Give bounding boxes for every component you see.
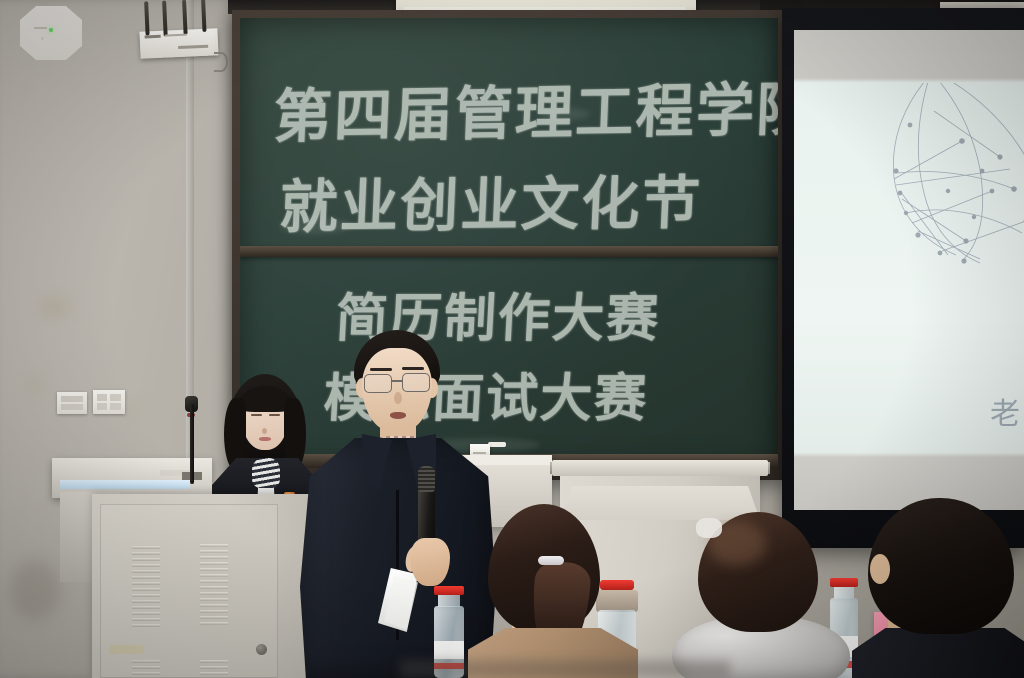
wall-smudge bbox=[28, 380, 42, 390]
wall-smudge bbox=[10, 560, 60, 620]
cabinet-lock[interactable] bbox=[256, 644, 267, 655]
speaker-man bbox=[300, 330, 496, 678]
speaker-glasses-bridge bbox=[392, 380, 403, 382]
light-switch-plate-2[interactable] bbox=[93, 390, 125, 414]
speaker-mouth bbox=[390, 412, 406, 419]
speaker-brow-left bbox=[370, 368, 392, 371]
desk-top-cap bbox=[552, 460, 768, 476]
ap-label-line bbox=[34, 27, 47, 29]
woman-eye-right bbox=[269, 414, 280, 416]
metal-equipment-cabinet[interactable] bbox=[92, 494, 310, 678]
bottle-cap bbox=[434, 586, 464, 595]
woman-striped-scarf bbox=[252, 458, 280, 488]
audience-person-dark-hair bbox=[862, 498, 1024, 678]
podium-edge-light bbox=[60, 480, 190, 489]
cabinet-door[interactable] bbox=[100, 504, 278, 678]
woman-nose bbox=[262, 428, 267, 434]
ap-status-led bbox=[49, 28, 53, 32]
board-heading-line-1: 第四届管理工程学院 bbox=[272, 62, 778, 154]
jammer-label bbox=[178, 45, 208, 49]
audience2-hair-clip bbox=[696, 518, 722, 538]
audience3-ear bbox=[870, 554, 890, 584]
board-heading-line-2: 就业创业文化节 bbox=[278, 156, 704, 244]
jammer-cable bbox=[214, 52, 228, 72]
speaker-brow-right bbox=[402, 367, 424, 370]
projection-screen: 老 bbox=[782, 8, 1024, 548]
speaker-glasses-lens-right bbox=[402, 373, 430, 392]
cabinet-louver-group bbox=[200, 544, 228, 628]
speaker-glasses-lens-left bbox=[364, 374, 392, 393]
desk-shadow bbox=[400, 660, 730, 678]
speaker-hand bbox=[410, 538, 450, 586]
microphone-grille bbox=[418, 466, 435, 492]
projection-screen-surface: 老 bbox=[794, 30, 1024, 510]
audience3-dark-jacket bbox=[852, 628, 1024, 678]
jammer-label bbox=[165, 34, 187, 37]
wall-smudge bbox=[130, 405, 142, 414]
speaker-nose bbox=[394, 392, 402, 404]
signal-jammer-device bbox=[139, 28, 218, 58]
classroom-scene: 第四届管理工程学院 就业创业文化节 简历制作大赛 模拟面试大赛 bbox=[0, 0, 1024, 678]
jammer-label bbox=[145, 35, 161, 38]
cabinet-louver-group bbox=[200, 660, 228, 678]
cabinet-label bbox=[110, 645, 144, 654]
wall-smudge bbox=[40, 300, 70, 314]
audience-woman-fur-collar bbox=[690, 512, 840, 678]
woman-mouth bbox=[259, 437, 271, 441]
bottle-label bbox=[434, 641, 464, 660]
gooseneck-microphone-stand bbox=[190, 404, 194, 484]
wifi-access-point-icon bbox=[20, 6, 82, 60]
cabinet-louver-group bbox=[132, 546, 160, 630]
woman-eye-left bbox=[251, 414, 262, 416]
audience1-hair-tie bbox=[538, 556, 564, 565]
chalkboard-divider-rail bbox=[240, 246, 778, 257]
slide-text-fragment: 老 bbox=[990, 389, 1020, 433]
slide-network-globe-graphic bbox=[794, 83, 1024, 381]
ap-secondary-led bbox=[41, 37, 44, 40]
cabinet-louver-group bbox=[132, 660, 160, 678]
audience-woman-ponytail bbox=[468, 504, 638, 678]
light-switch-plate-1[interactable] bbox=[57, 392, 87, 414]
